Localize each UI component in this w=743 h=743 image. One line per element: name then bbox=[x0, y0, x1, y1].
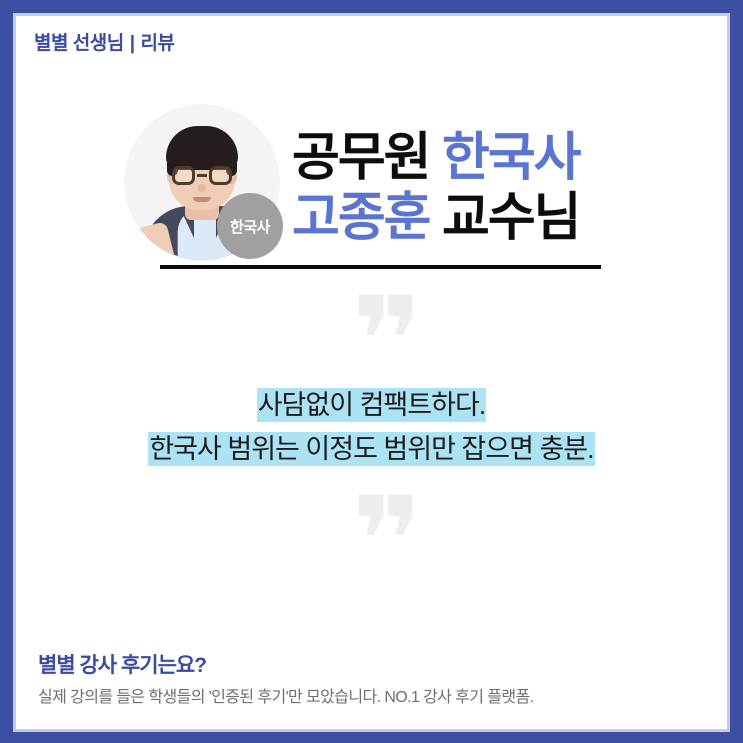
glasses-left-lens-icon bbox=[172, 166, 195, 185]
review-line: 사담없이 컴팩트하다. bbox=[0, 383, 743, 427]
avatar-hair-shape bbox=[166, 126, 238, 170]
footer-block: 별별 강사 후기는요? 실제 강의를 들은 학생들의 '인증된 후기'만 모았습… bbox=[38, 652, 698, 710]
quote-mark-close-icon: ❞ bbox=[352, 482, 422, 602]
review-line-text: 사담없이 컴팩트하다. bbox=[257, 388, 487, 422]
avatar-nose-shape bbox=[197, 184, 206, 192]
instructor-title-line-2: 고종훈 교수님 bbox=[292, 188, 712, 248]
header-breadcrumb: 별별 선생님|리뷰 bbox=[34, 28, 174, 55]
title-instructor-honorific: 교수님 bbox=[442, 189, 580, 247]
review-line: 한국사 범위는 이정도 범위만 잡으면 충분. bbox=[0, 427, 743, 471]
review-text-block: 사담없이 컴팩트하다. 한국사 범위는 이정도 범위만 잡으면 충분. bbox=[0, 383, 743, 471]
title-subject: 한국사 bbox=[442, 129, 580, 187]
review-line-text: 한국사 범위는 이정도 범위만 잡으면 충분. bbox=[148, 432, 594, 466]
instructor-title-line-1: 공무원 한국사 bbox=[292, 128, 712, 188]
title-divider bbox=[160, 265, 601, 269]
subject-badge: 한국사 bbox=[217, 193, 283, 259]
footer-title: 별별 강사 후기는요? bbox=[38, 652, 698, 680]
glasses-bridge-icon bbox=[197, 174, 207, 177]
footer-subtitle: 실제 강의를 들은 학생들의 '인증된 후기'만 모았습니다. NO.1 강사 … bbox=[38, 686, 698, 710]
instructor-title-block: 공무원 한국사 고종훈 교수님 bbox=[292, 128, 712, 248]
title-instructor-name: 고종훈 bbox=[292, 189, 430, 247]
avatar-mouth-shape bbox=[193, 197, 211, 202]
title-subject-prefix: 공무원 bbox=[292, 129, 430, 187]
glasses-right-lens-icon bbox=[209, 166, 232, 185]
review-card-root: 별별 선생님|리뷰 한국사 공무원 한국사 bbox=[0, 0, 743, 743]
header-separator: | bbox=[124, 33, 141, 55]
header-brand: 별별 선생님 bbox=[34, 33, 124, 54]
header-section: 리뷰 bbox=[141, 33, 175, 54]
